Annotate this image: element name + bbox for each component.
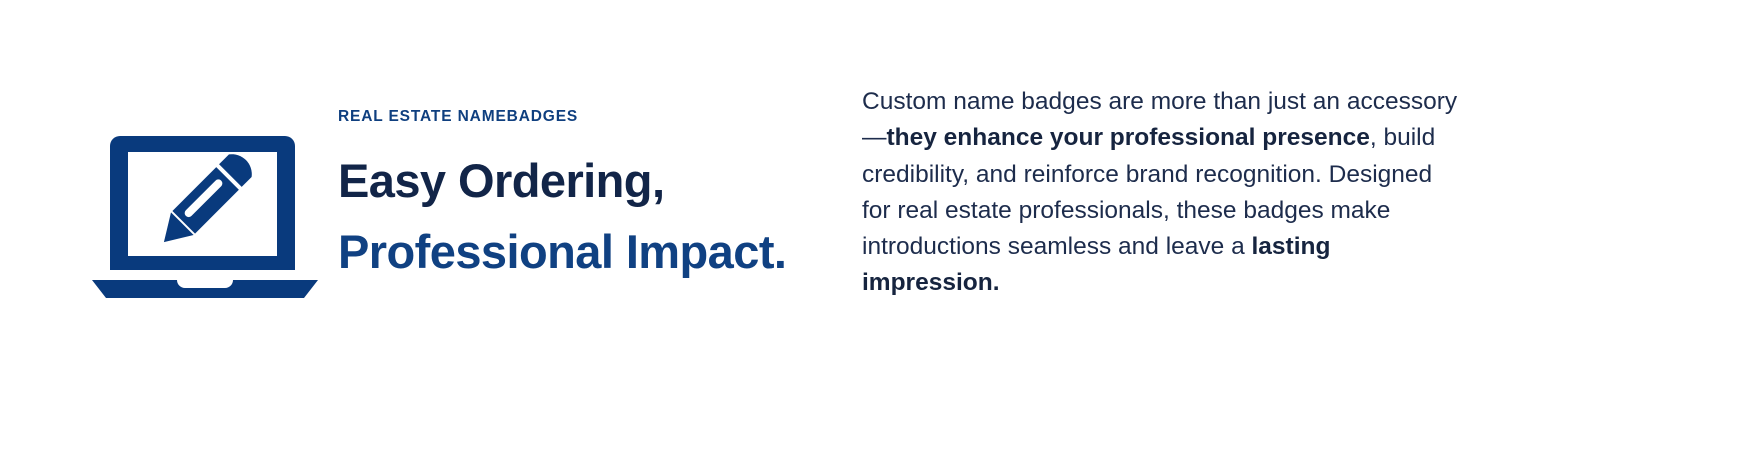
- laptop-pencil-icon: [90, 128, 325, 303]
- headline-line-2: Professional Impact.: [338, 216, 818, 287]
- body-copy-block: Custom name badges are more than just an…: [862, 84, 1462, 302]
- headline-line-1: Easy Ordering,: [338, 145, 818, 216]
- body-paragraph: Custom name badges are more than just an…: [862, 84, 1462, 302]
- promo-section: REAL ESTATE NAMEBADGES Easy Ordering, Pr…: [0, 0, 1740, 450]
- headline-block: REAL ESTATE NAMEBADGES Easy Ordering, Pr…: [338, 108, 818, 287]
- eyebrow-label: REAL ESTATE NAMEBADGES: [338, 108, 818, 127]
- page-title: Easy Ordering, Professional Impact.: [338, 145, 818, 288]
- body-text-bold-1: they enhance your professional presence: [887, 124, 1370, 151]
